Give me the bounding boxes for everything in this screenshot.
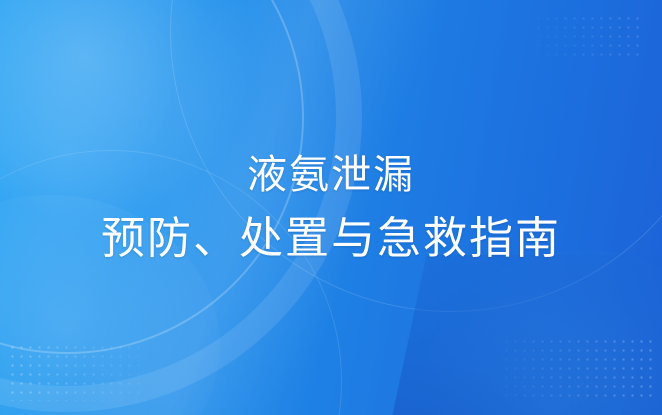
banner-title-line-2: 预防、处置与急救指南 [101,209,561,269]
banner-title-block: 液氨泄漏 预防、处置与急救指南 [0,0,662,415]
banner-title-line-1: 液氨泄漏 [247,147,415,203]
title-banner: 液氨泄漏 预防、处置与急救指南 [0,0,662,415]
